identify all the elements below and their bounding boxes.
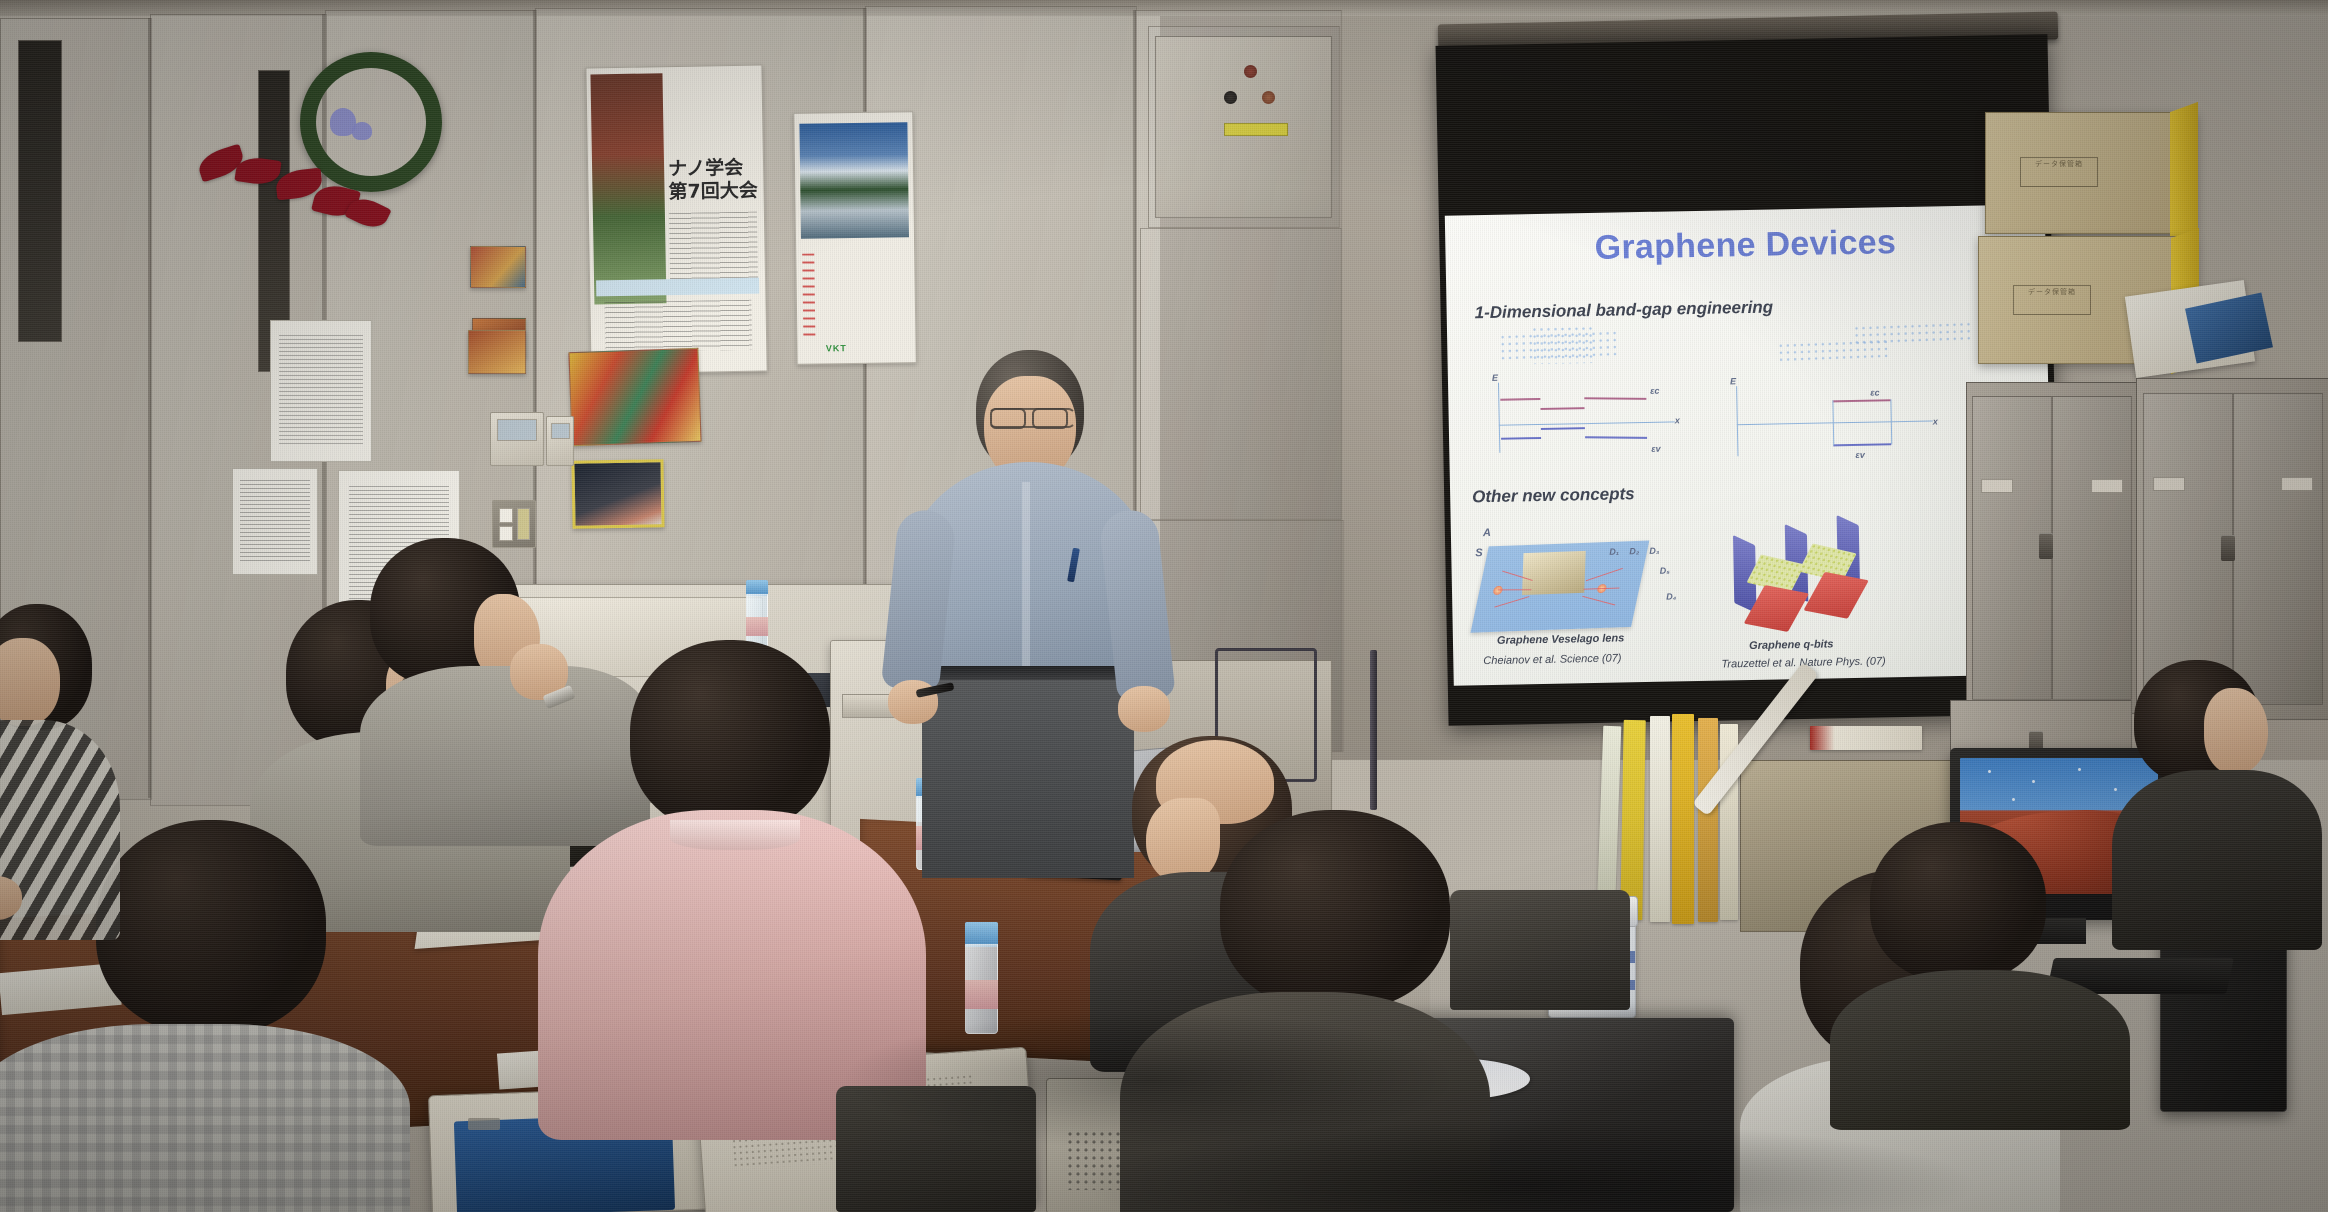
wallpaper-speck bbox=[1988, 770, 1991, 773]
band-diagram-left: E x εc εv bbox=[1492, 379, 1683, 461]
attendee-far-right bbox=[2112, 660, 2322, 960]
postcard-small bbox=[468, 330, 526, 374]
poster-highlight-band bbox=[596, 278, 759, 297]
controller-panel[interactable] bbox=[546, 416, 574, 466]
attendee-checked-shirt bbox=[0, 1024, 410, 1212]
slide-title: Graphene Devices bbox=[1445, 220, 2046, 271]
wall-calendar: VKT bbox=[793, 111, 917, 365]
poster-photo bbox=[590, 73, 666, 304]
wall-note bbox=[232, 468, 318, 575]
veselago-reference: Cheianov et al. Science (07) bbox=[1483, 652, 1621, 667]
shelf-book[interactable] bbox=[1672, 714, 1694, 924]
veselago-detector-label: D₄ bbox=[1666, 591, 1676, 601]
veselago-ray bbox=[1494, 596, 1529, 608]
band-diagram-right: E x εc εv bbox=[1730, 382, 1941, 464]
postcard-small bbox=[470, 246, 526, 288]
note-lines bbox=[279, 335, 363, 447]
locker-door-left[interactable] bbox=[2143, 393, 2233, 706]
veselago-ray bbox=[1582, 596, 1615, 606]
presenter-shirt-placket bbox=[1022, 482, 1030, 682]
postcard-colorful bbox=[568, 348, 701, 446]
carton-stamp: データ保管箱 bbox=[2013, 285, 2091, 315]
band-conduction-seg bbox=[1500, 398, 1540, 401]
veselago-caption: Graphene Veselago lens bbox=[1497, 632, 1625, 646]
locker-label-plate bbox=[2091, 479, 2123, 493]
carton-stamp-text: データ保管箱 bbox=[2014, 286, 2090, 300]
band-x-axis bbox=[1737, 420, 1933, 425]
attendee-face bbox=[0, 638, 60, 726]
wallpaper-speck bbox=[2032, 780, 2035, 783]
veselago-ray bbox=[1497, 589, 1531, 590]
locker-door-right[interactable] bbox=[2052, 396, 2132, 700]
shelf-book[interactable] bbox=[1650, 716, 1670, 922]
thermostat-panel[interactable] bbox=[490, 412, 544, 466]
shelf-book[interactable] bbox=[1698, 718, 1718, 922]
crt-logo-badge bbox=[468, 1118, 500, 1130]
band-y-axis-label: E bbox=[1492, 373, 1498, 383]
conference-poster: ナノ学会 第7回大会 bbox=[585, 64, 767, 374]
band-gap-bottom bbox=[1833, 443, 1891, 446]
attendee-hair bbox=[1220, 810, 1450, 1010]
seminar-room-photo: ナノ学会 第7回大会 VKT bbox=[0, 0, 2328, 1212]
attendee-collar bbox=[670, 820, 800, 850]
qbit-caption: Graphene q-bits bbox=[1749, 638, 1834, 652]
carton-stamp-text: データ保管箱 bbox=[2021, 158, 2097, 172]
bottle-label bbox=[746, 617, 768, 636]
utility-cabinet-upper bbox=[1148, 26, 1340, 228]
veselago-detector-label: D₅ bbox=[1660, 566, 1670, 576]
band-x-axis-label: x bbox=[1933, 416, 1938, 426]
carton-stamp: データ保管箱 bbox=[2020, 157, 2098, 187]
floor-shadow bbox=[1080, 1120, 1980, 1212]
presentation-slide: Graphene Devices 1-Dimensional band-gap … bbox=[1445, 204, 2054, 685]
chair-back bbox=[1450, 890, 1630, 1010]
band-gap-top bbox=[1832, 399, 1890, 402]
calendar-photo bbox=[799, 122, 909, 239]
poster-heading-line1: ナノ学会 bbox=[668, 158, 743, 181]
locker-handle[interactable] bbox=[2221, 535, 2235, 561]
door-glass-slot bbox=[18, 40, 62, 342]
wall-seam-a bbox=[148, 18, 151, 798]
band-y-axis-label: E bbox=[1730, 376, 1736, 386]
band-label-ev: εv bbox=[1855, 450, 1865, 460]
screen-support-pole bbox=[1370, 650, 1377, 810]
graphene-nanoribbon-left-wide bbox=[1531, 325, 1594, 364]
slide-section-2-heading: Other new concepts bbox=[1472, 484, 1635, 507]
locker-handle[interactable] bbox=[2039, 533, 2053, 559]
band-label-ec: εc bbox=[1870, 387, 1880, 397]
veselago-lens-figure bbox=[1470, 541, 1649, 633]
poster-footer-lines bbox=[604, 300, 752, 353]
wallpaper-speck bbox=[2078, 768, 2081, 771]
band-conduction-seg bbox=[1584, 397, 1646, 400]
presenter-glasses-lens-l bbox=[990, 408, 1026, 429]
band-x-axis bbox=[1499, 421, 1675, 425]
light-switch-indicator bbox=[517, 508, 530, 540]
attendee-right-rear bbox=[1840, 822, 2140, 1122]
controller-display bbox=[551, 423, 570, 439]
attendee-hair bbox=[96, 820, 326, 1034]
graphene-nanoribbon-right-step bbox=[1853, 321, 1971, 345]
locker-door-right[interactable] bbox=[2233, 393, 2323, 706]
bottle-label bbox=[965, 980, 998, 1009]
calendar-dates bbox=[802, 254, 815, 339]
veselago-detector-label: D₃ bbox=[1649, 546, 1659, 556]
band-valence-seg bbox=[1541, 427, 1585, 430]
veselago-ray bbox=[1586, 568, 1623, 581]
band-x-axis-label: x bbox=[1675, 415, 1680, 425]
attendee-dark-top bbox=[1830, 970, 2130, 1130]
veselago-detector-label: D₂ bbox=[1629, 546, 1639, 556]
carton-tape bbox=[2170, 102, 2198, 244]
wreath-flower bbox=[352, 122, 372, 140]
presenter-hand-right bbox=[1118, 686, 1170, 732]
attendee-face bbox=[2204, 688, 2268, 774]
storage-carton-top: データ保管箱 bbox=[1985, 112, 2197, 234]
slide-section-1-heading: 1-Dimensional band-gap engineering bbox=[1474, 298, 1773, 324]
presenter-glasses-lens-r bbox=[1032, 408, 1068, 429]
band-valence-seg bbox=[1585, 436, 1647, 439]
bottle-cap bbox=[965, 922, 998, 947]
veselago-source-label: S bbox=[1475, 547, 1483, 559]
veselago-marker-A: A bbox=[1483, 527, 1491, 539]
light-switch-rocker[interactable] bbox=[499, 508, 513, 523]
shelf-book-red[interactable] bbox=[1810, 726, 1922, 750]
poster-body-lines bbox=[669, 212, 758, 284]
qbit-contact-red bbox=[1803, 572, 1868, 619]
band-label-ev: εv bbox=[1651, 444, 1661, 454]
attendee-hair bbox=[1870, 822, 2046, 982]
veselago-detector-label: D₁ bbox=[1609, 547, 1619, 557]
note-lines bbox=[240, 480, 311, 564]
thermostat-display bbox=[497, 419, 537, 441]
locker-label-plate bbox=[1981, 479, 2013, 493]
band-y-axis bbox=[1736, 386, 1738, 456]
band-label-ec: εc bbox=[1650, 386, 1660, 396]
qbit-figure bbox=[1727, 525, 1929, 649]
projection-screen-assembly: Graphene Devices 1-Dimensional band-gap … bbox=[1420, 10, 2060, 750]
poster-heading-line2: 第7回大会 bbox=[668, 181, 758, 204]
calendar-logo: VKT bbox=[826, 343, 847, 353]
veselago-source-point bbox=[1492, 586, 1503, 595]
attendee-far-left bbox=[0, 604, 120, 934]
attendee-dark-top bbox=[2112, 770, 2322, 950]
postcard-train bbox=[571, 459, 664, 529]
locker-label-plate bbox=[2281, 477, 2313, 491]
attendee-hair bbox=[630, 640, 830, 832]
presenter-belt bbox=[922, 666, 1134, 680]
band-y-axis bbox=[1498, 383, 1500, 453]
locker-label-plate bbox=[2153, 477, 2185, 491]
band-conduction-seg bbox=[1540, 407, 1584, 410]
wallpaper-speck bbox=[2012, 798, 2015, 801]
band-valence-seg bbox=[1501, 437, 1541, 440]
christmas-wreath bbox=[300, 52, 442, 192]
wall-note bbox=[270, 320, 372, 462]
